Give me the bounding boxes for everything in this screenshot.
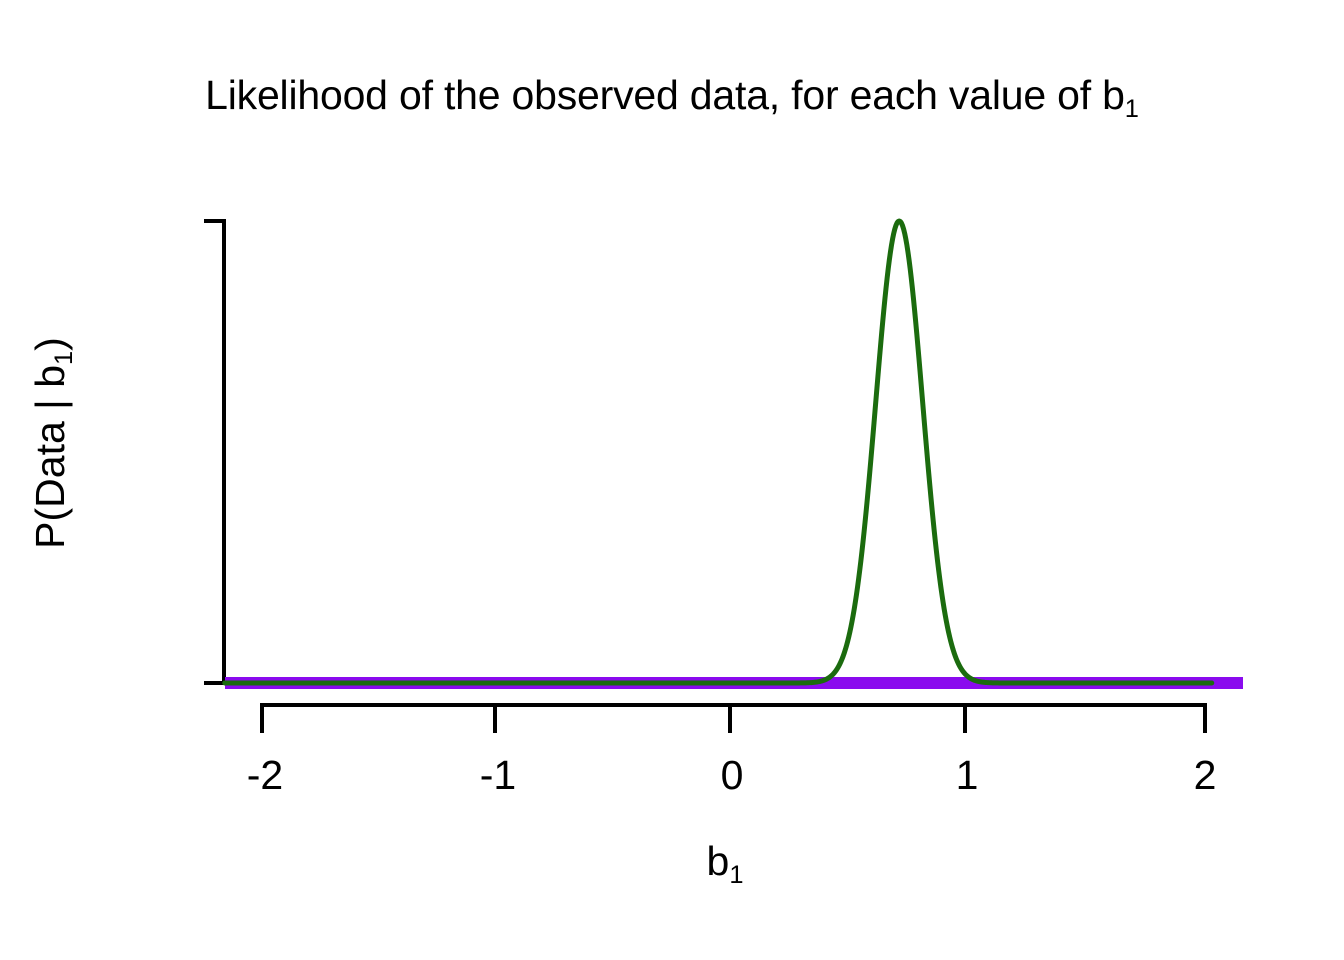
plot-graphic [0, 0, 1344, 960]
x-tick-label-2: 0 [672, 752, 792, 799]
x-tick-label-4: 2 [1145, 752, 1265, 799]
y-axis-line [204, 221, 224, 683]
x-tick-label-3: 1 [907, 752, 1027, 799]
x-axis-line [262, 705, 1205, 733]
x-tick-label-1: -1 [438, 752, 558, 799]
series-likelihood [225, 221, 1212, 683]
plot-canvas: Likelihood of the observed data, for eac… [0, 0, 1344, 960]
x-tick-label-0: -2 [205, 752, 325, 799]
